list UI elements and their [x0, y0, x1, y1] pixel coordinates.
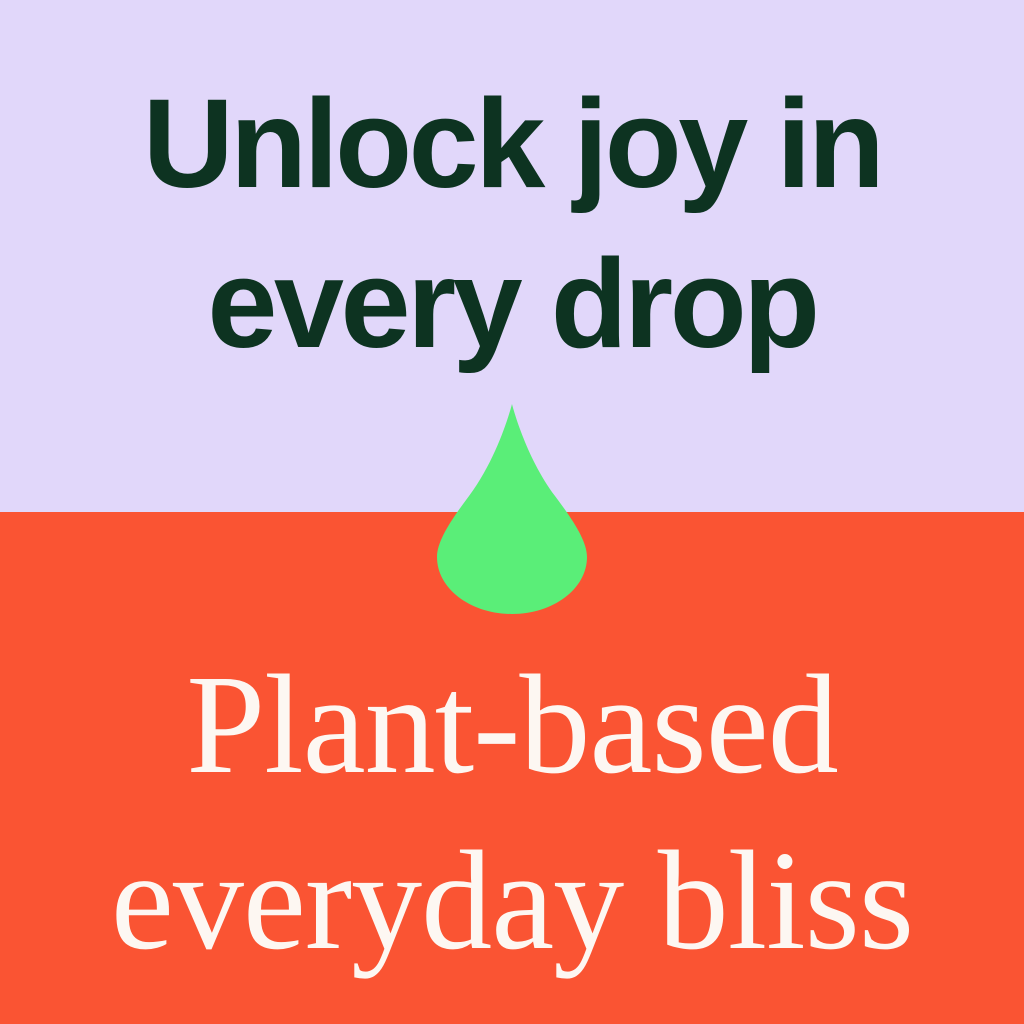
subhead-line-1: Plant-based	[0, 636, 1024, 812]
headline-line-2: every drop	[0, 224, 1024, 384]
subhead: Plant-based everyday bliss	[0, 636, 1024, 988]
promo-poster: Unlock joy in every drop Plant-based eve…	[0, 0, 1024, 1024]
droplet-icon	[437, 404, 587, 614]
headline: Unlock joy in every drop	[0, 64, 1024, 384]
headline-line-1: Unlock joy in	[0, 64, 1024, 224]
subhead-line-2: everyday bliss	[0, 812, 1024, 988]
